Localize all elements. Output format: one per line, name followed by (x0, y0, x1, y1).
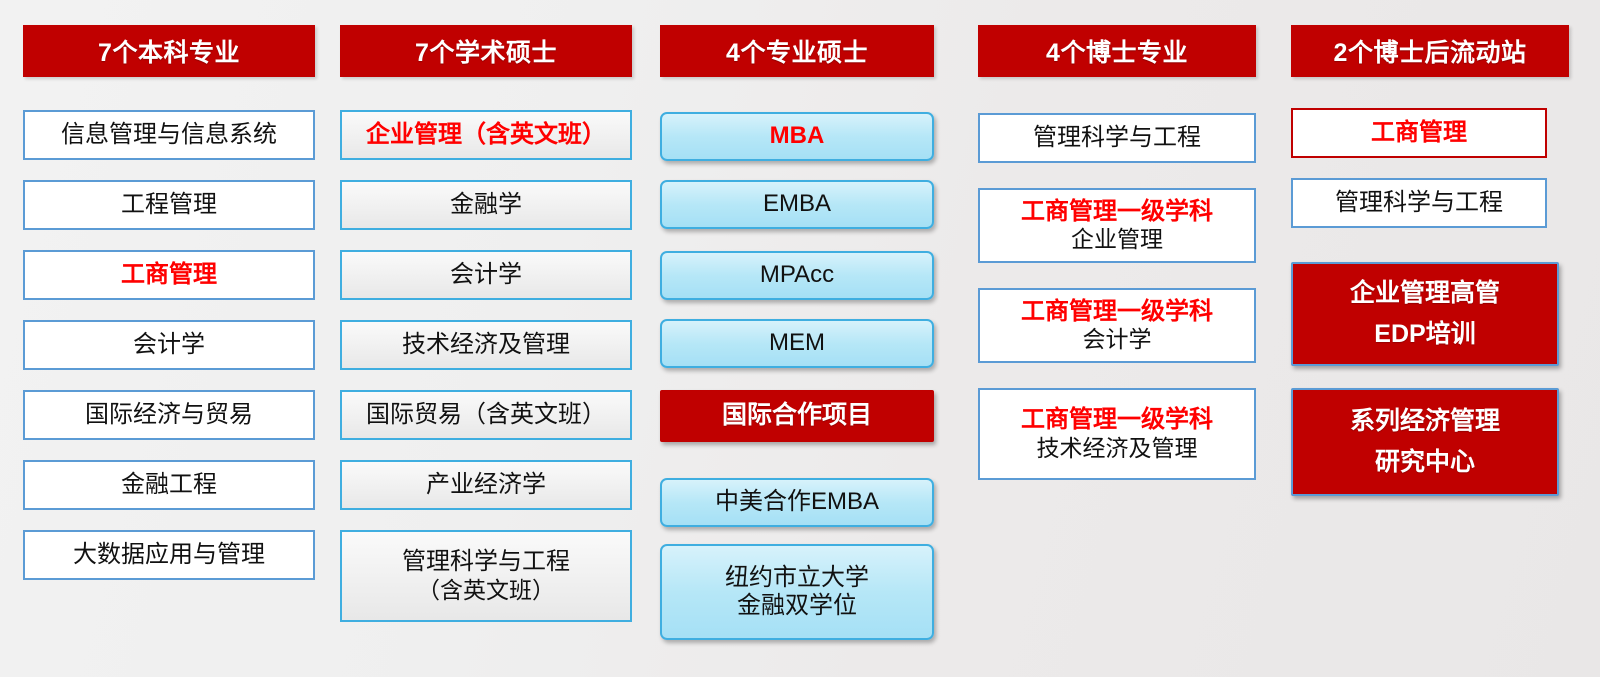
column-undergraduate: 7个本科专业 信息管理与信息系统 工程管理 工商管理 会计学 国际经济与贸易 金… (23, 0, 315, 677)
program-label: 工商管理 (1293, 119, 1545, 147)
column-postdoctoral: 2个博士后流动站 工商管理 管理科学与工程 企业管理高管 EDP培训 系列经济管… (1291, 0, 1569, 677)
column-header-undergraduate: 7个本科专业 (23, 25, 315, 77)
program-label: 工商管理一级学科 (980, 298, 1254, 326)
program-label: 金融工程 (25, 471, 313, 499)
column-header-postdoctoral: 2个博士后流动站 (1291, 25, 1569, 77)
program-sublabel: 技术经济及管理 (980, 435, 1254, 462)
program-label: 纽约市立大学 (662, 564, 932, 592)
program-label: MPAcc (662, 261, 932, 289)
program-box[interactable]: 管理科学与工程 （含英文班） (340, 530, 632, 622)
column-professional-master: 4个专业硕士 MBA EMBA MPAcc MEM 国际合作项目 中美合作EMB… (660, 0, 934, 677)
program-structure-diagram: 7个本科专业 信息管理与信息系统 工程管理 工商管理 会计学 国际经济与贸易 金… (0, 0, 1600, 677)
program-box[interactable]: MPAcc (660, 251, 934, 300)
program-box[interactable]: 企业管理（含英文班） (340, 110, 632, 160)
column-header-academic-master: 7个学术硕士 (340, 25, 632, 77)
section-label: 国际合作项目 (662, 401, 932, 431)
research-center-label: 系列经济管理 (1293, 407, 1557, 437)
program-box[interactable]: 大数据应用与管理 (23, 530, 315, 580)
program-label: 中美合作EMBA (662, 488, 932, 516)
program-label: 国际经济与贸易 (25, 401, 313, 429)
program-label: 企业管理（含英文班） (342, 121, 630, 149)
program-box[interactable]: 产业经济学 (340, 460, 632, 510)
program-box[interactable]: 会计学 (23, 320, 315, 370)
program-box[interactable]: 工商管理一级学科 企业管理 (978, 188, 1256, 263)
column-header-doctoral: 4个博士专业 (978, 25, 1256, 77)
program-box[interactable]: 工商管理一级学科 技术经济及管理 (978, 388, 1256, 480)
program-label: 工商管理一级学科 (980, 406, 1254, 434)
program-label: 管理科学与工程 (980, 124, 1254, 152)
program-box[interactable]: 工商管理 (1291, 108, 1547, 158)
program-label: EMBA (662, 190, 932, 218)
program-box[interactable]: 纽约市立大学 金融双学位 (660, 544, 934, 640)
section-header-box[interactable]: 国际合作项目 (660, 390, 934, 442)
program-box[interactable]: MEM (660, 319, 934, 368)
program-box[interactable]: 信息管理与信息系统 (23, 110, 315, 160)
program-label: 会计学 (25, 331, 313, 359)
program-sublabel: 企业管理 (980, 226, 1254, 253)
program-box[interactable]: 国际经济与贸易 (23, 390, 315, 440)
training-label: 企业管理高管 (1293, 279, 1557, 309)
research-center-sublabel: 研究中心 (1293, 448, 1557, 478)
research-center-box[interactable]: 系列经济管理 研究中心 (1291, 388, 1559, 496)
program-box[interactable]: 工程管理 (23, 180, 315, 230)
program-label: 工商管理 (25, 261, 313, 289)
program-label: MBA (662, 122, 932, 150)
column-doctoral: 4个博士专业 管理科学与工程 工商管理一级学科 企业管理 工商管理一级学科 会计… (978, 0, 1256, 677)
program-box[interactable]: 管理科学与工程 (1291, 178, 1547, 228)
program-box[interactable]: 会计学 (340, 250, 632, 300)
program-box[interactable]: MBA (660, 112, 934, 161)
program-label: 技术经济及管理 (342, 331, 630, 359)
program-box[interactable]: EMBA (660, 180, 934, 229)
training-sublabel: EDP培训 (1293, 320, 1557, 350)
program-box[interactable]: 金融学 (340, 180, 632, 230)
program-label: 管理科学与工程 (342, 548, 630, 576)
program-sublabel: （含英文班） (342, 577, 630, 604)
program-label: MEM (662, 329, 932, 357)
program-label: 会计学 (342, 261, 630, 289)
program-box[interactable]: 工商管理 (23, 250, 315, 300)
program-box[interactable]: 管理科学与工程 (978, 113, 1256, 163)
program-label: 金融学 (342, 191, 630, 219)
program-label: 工程管理 (25, 191, 313, 219)
program-label: 管理科学与工程 (1293, 189, 1545, 217)
program-box[interactable]: 金融工程 (23, 460, 315, 510)
training-program-box[interactable]: 企业管理高管 EDP培训 (1291, 262, 1559, 366)
column-academic-master: 7个学术硕士 企业管理（含英文班） 金融学 会计学 技术经济及管理 国际贸易（含… (340, 0, 632, 677)
program-label: 工商管理一级学科 (980, 198, 1254, 226)
program-sublabel: 会计学 (980, 326, 1254, 353)
program-box[interactable]: 工商管理一级学科 会计学 (978, 288, 1256, 363)
program-label: 信息管理与信息系统 (25, 121, 313, 149)
program-label: 国际贸易（含英文班） (342, 401, 630, 429)
program-box[interactable]: 中美合作EMBA (660, 478, 934, 527)
program-box[interactable]: 国际贸易（含英文班） (340, 390, 632, 440)
program-box[interactable]: 技术经济及管理 (340, 320, 632, 370)
column-header-professional-master: 4个专业硕士 (660, 25, 934, 77)
program-sublabel: 金融双学位 (662, 592, 932, 620)
program-label: 大数据应用与管理 (25, 541, 313, 569)
program-label: 产业经济学 (342, 471, 630, 499)
